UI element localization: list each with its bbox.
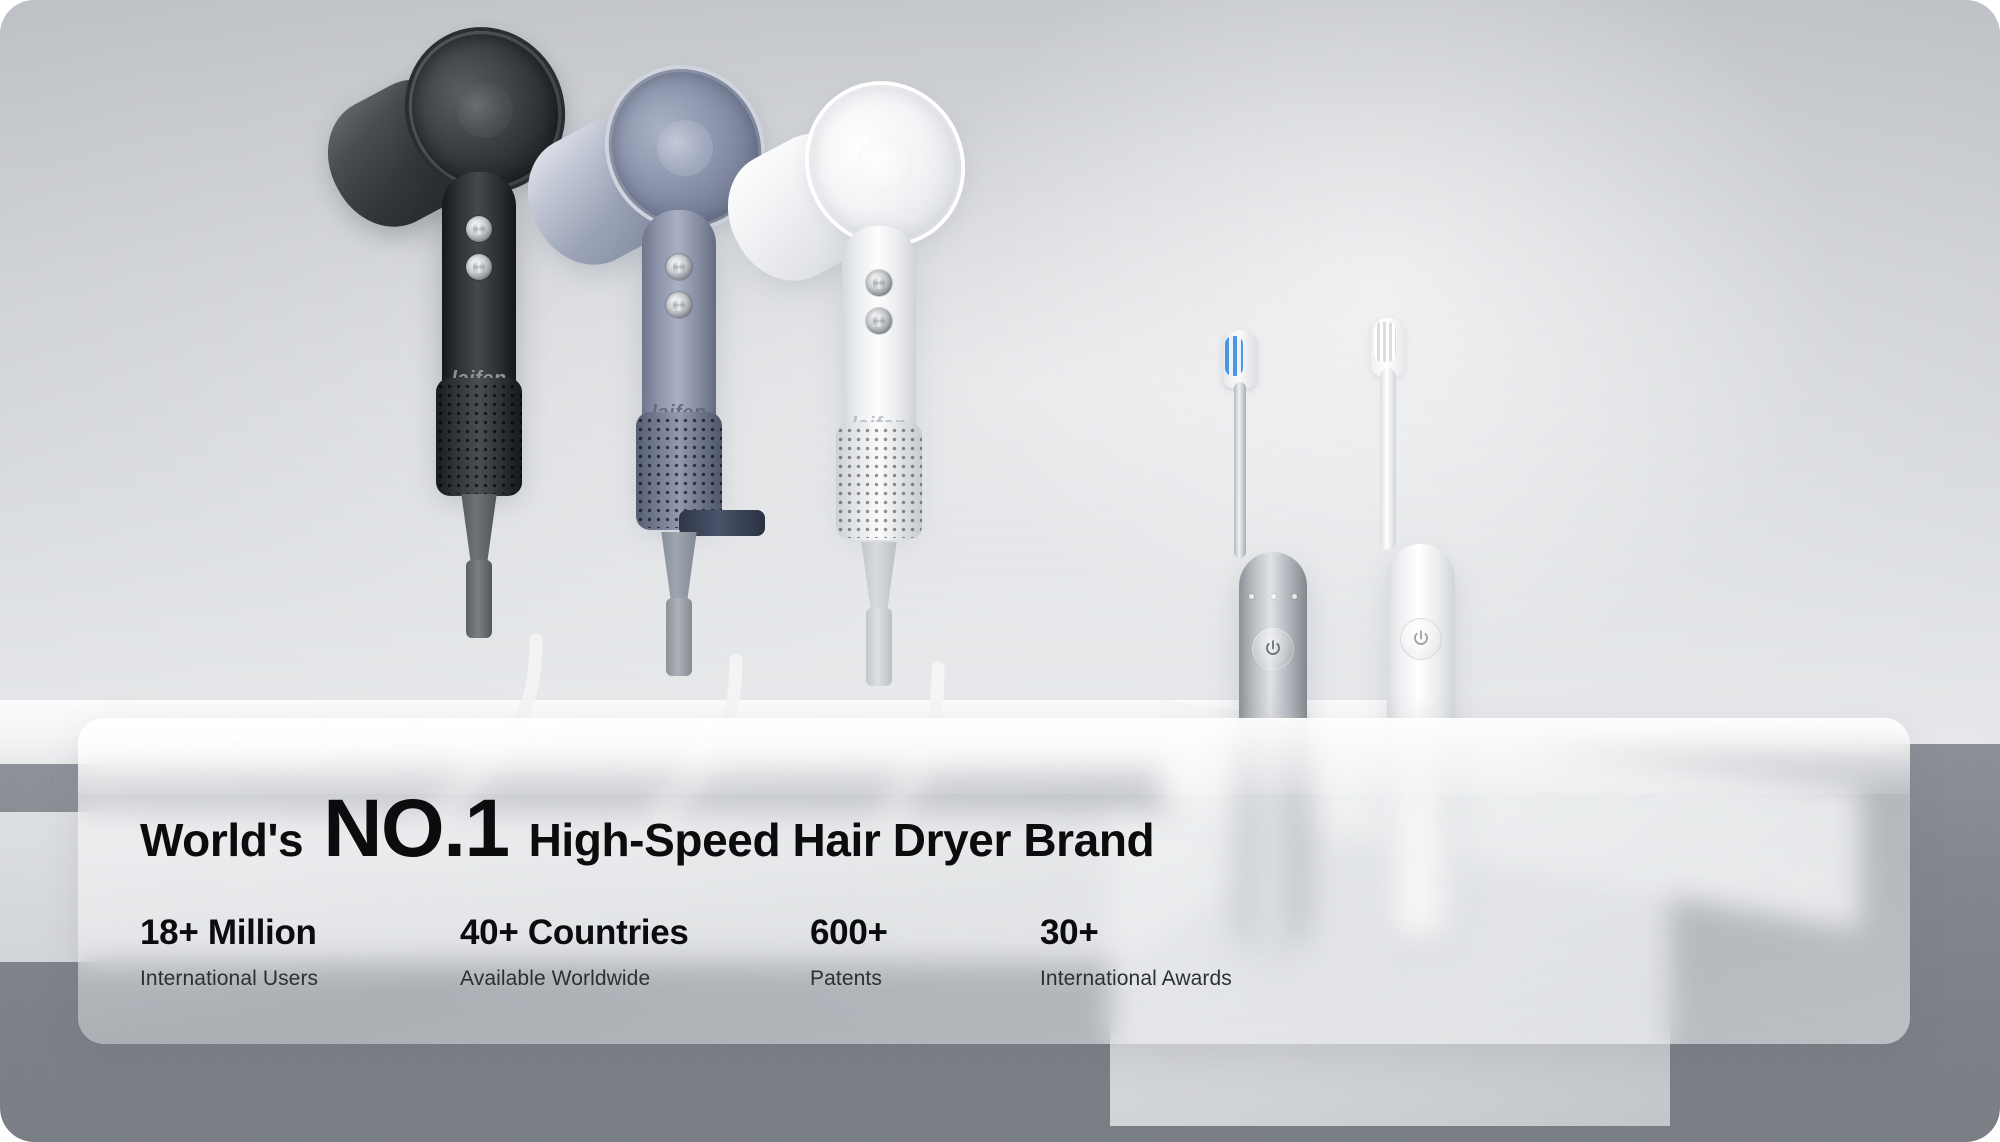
dryer-button-power-blue[interactable] — [666, 254, 692, 280]
led-dot — [1292, 594, 1297, 599]
toothbrush-mode-leds-silver — [1249, 594, 1297, 599]
dryer-button-mode-blue[interactable] — [666, 292, 692, 318]
stat-value: 30+ — [1040, 914, 1340, 953]
stat-value: 40+ Countries — [460, 914, 810, 953]
dryer-button-power-black[interactable] — [466, 216, 492, 242]
stat-value: 600+ — [810, 914, 1040, 953]
dryer-cord-cone-white — [853, 542, 905, 610]
headline: World's NO.1 High-Speed Hair Dryer Brand — [140, 792, 1154, 867]
toothbrush-bristles-white — [1374, 322, 1396, 362]
stat-item-patents: 600+ Patents — [810, 914, 1040, 991]
dryer-filter-mesh-white — [836, 426, 922, 538]
power-icon — [1262, 638, 1284, 660]
stat-label: International Users — [140, 967, 460, 991]
stats-glass-card: World's NO.1 High-Speed Hair Dryer Brand… — [78, 718, 1910, 1044]
dryer-button-power-white[interactable] — [866, 270, 892, 296]
power-icon — [1410, 628, 1432, 650]
stat-item-users: 18+ Million International Users — [140, 914, 460, 991]
dryer-cord-cone-blue — [653, 532, 705, 600]
stat-label: Patents — [810, 967, 1040, 991]
stat-label: International Awards — [1040, 967, 1340, 991]
toothbrush-head-silver — [1223, 330, 1257, 388]
headline-suffix: High-Speed Hair Dryer Brand — [529, 813, 1155, 867]
toothbrush-bristles-silver — [1225, 336, 1243, 376]
toothbrush-power-button-silver[interactable] — [1252, 628, 1294, 670]
toothbrush-neck-silver — [1234, 382, 1246, 558]
dryer-cord-stub-white — [866, 608, 892, 686]
stat-item-countries: 40+ Countries Available Worldwide — [460, 914, 810, 991]
led-dot — [1249, 594, 1254, 599]
dryer-button-mode-white[interactable] — [866, 308, 892, 334]
toothbrush-neck-white — [1380, 368, 1396, 550]
dryer-cord-cone-black — [453, 494, 505, 562]
promo-banner: laifen laifen — [0, 0, 2000, 1142]
stat-value: 18+ Million — [140, 914, 460, 953]
led-dot — [1271, 594, 1276, 599]
stats-row: 18+ Million International Users 40+ Coun… — [140, 914, 1340, 991]
dryer-button-mode-black[interactable] — [466, 254, 492, 280]
dryer-filter-mesh-black — [436, 382, 522, 494]
headline-prefix: World's — [140, 813, 303, 867]
dryer-cord-stub-blue — [666, 598, 692, 676]
toothbrush-power-button-white[interactable] — [1400, 618, 1442, 660]
dryer-cord-stub-black — [466, 560, 492, 638]
stat-label: Available Worldwide — [460, 967, 810, 991]
headline-emphasis: NO.1 — [323, 792, 508, 866]
stat-item-awards: 30+ International Awards — [1040, 914, 1340, 991]
